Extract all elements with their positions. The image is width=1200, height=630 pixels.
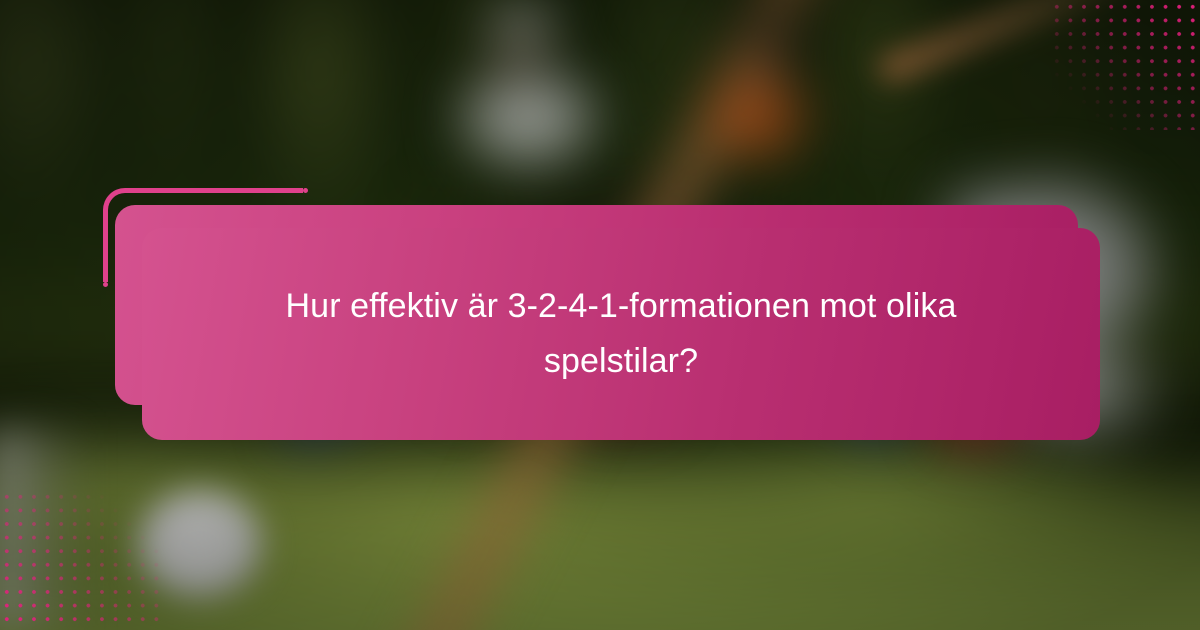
social-card-canvas: Hur effektiv är 3-2-4-1-formationen mot … [0,0,1200,630]
page-title: Hur effektiv är 3-2-4-1-formationen mot … [221,279,1021,389]
card-stack: Hur effektiv är 3-2-4-1-formationen mot … [0,0,1200,630]
question-card: Hur effektiv är 3-2-4-1-formationen mot … [142,228,1100,440]
